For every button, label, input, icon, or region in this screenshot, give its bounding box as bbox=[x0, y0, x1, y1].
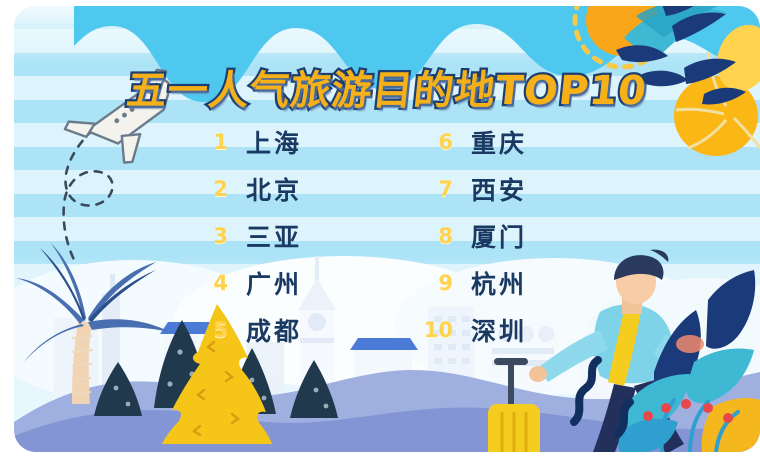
list-item: 1 上海 bbox=[184, 118, 379, 165]
list-item: 7 西安 bbox=[409, 165, 604, 212]
city-name: 北京 bbox=[246, 171, 302, 207]
list-item: 3 三亚 bbox=[184, 212, 379, 259]
rank-number: 9 bbox=[409, 271, 453, 295]
city-name: 西安 bbox=[471, 171, 527, 207]
list-item: 4 广州 bbox=[184, 259, 379, 306]
rank-number: 4 bbox=[184, 271, 228, 295]
list-item: 6 重庆 bbox=[409, 118, 604, 165]
poster-card: 五一人气旅游目的地TOP10 1 上海 6 重庆 2 北京 7 西安 3 三亚 bbox=[14, 6, 760, 452]
city-name: 成都 bbox=[246, 312, 302, 348]
list-item: 2 北京 bbox=[184, 165, 379, 212]
city-name: 重庆 bbox=[471, 124, 527, 160]
rank-number: 2 bbox=[184, 177, 228, 201]
rank-number: 8 bbox=[409, 224, 453, 248]
city-name: 杭州 bbox=[471, 265, 527, 301]
city-name: 深圳 bbox=[471, 312, 527, 348]
list-item: 8 厦门 bbox=[409, 212, 604, 259]
rank-number: 5 bbox=[184, 318, 228, 342]
rank-number: 10 bbox=[409, 318, 453, 342]
ranking-list: 1 上海 6 重庆 2 北京 7 西安 3 三亚 8 厦门 bbox=[184, 118, 604, 353]
city-name: 上海 bbox=[246, 124, 302, 160]
list-item: 9 杭州 bbox=[409, 259, 604, 306]
accent-blob bbox=[676, 335, 704, 353]
rank-number: 3 bbox=[184, 224, 228, 248]
list-item: 10 深圳 bbox=[409, 306, 604, 353]
list-item: 5 成都 bbox=[184, 306, 379, 353]
poster-root: 五一人气旅游目的地TOP10 1 上海 6 重庆 2 北京 7 西安 3 三亚 bbox=[0, 0, 760, 460]
city-name: 厦门 bbox=[471, 218, 527, 254]
city-name: 三亚 bbox=[246, 218, 302, 254]
city-name: 广州 bbox=[246, 265, 302, 301]
rank-number: 6 bbox=[409, 130, 453, 154]
rank-number: 7 bbox=[409, 177, 453, 201]
rank-number: 1 bbox=[184, 130, 228, 154]
